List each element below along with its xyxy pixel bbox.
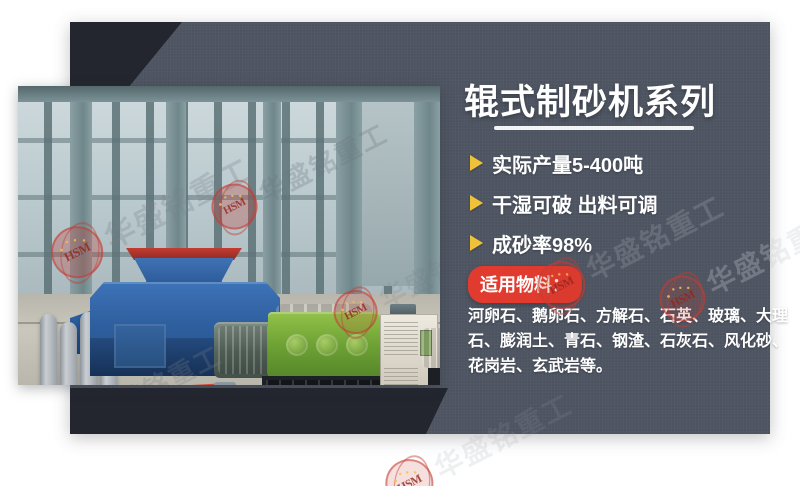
- page-title: 辊式制砂机系列: [464, 74, 764, 125]
- photo-gas-cylinder: [60, 322, 77, 385]
- photo-ceiling-beam: [18, 86, 440, 102]
- feature-item-1: 实际产量5-400吨: [470, 150, 770, 176]
- photo-gas-cylinder: [40, 314, 57, 385]
- materials-line: 石、膨润土、青石、钢渣、石灰石、风化砂、: [468, 329, 764, 354]
- photo-cabinet-vent: [384, 322, 418, 358]
- logo-stars-icon: [388, 462, 421, 486]
- feature-item-2: 干湿可破 出料可调: [470, 190, 770, 216]
- photo-column: [263, 86, 281, 301]
- photo-machine-hopper: [134, 258, 234, 284]
- navy-accent-strip: [70, 388, 448, 434]
- title-divider: [494, 126, 694, 130]
- photo-shaft-coupling: [214, 382, 236, 385]
- materials-badge: 适用物料：: [468, 266, 582, 303]
- triangle-right-icon: [470, 155, 483, 171]
- materials-list: 河卵石、鹅卵石、方解石、石英、玻璃、大理 石、膨润土、青石、钢渣、石灰石、风化砂…: [468, 304, 764, 379]
- triangle-right-icon: [470, 235, 483, 251]
- photo-motor-stand: [428, 368, 440, 385]
- photo-gearbox-flange: [286, 334, 308, 356]
- feature-label: 干湿可破 出料可调: [492, 189, 658, 218]
- banner-content: 辊式制砂机系列 实际产量5-400吨 干湿可破 出料可调 成砂率98% 适用物料…: [464, 0, 770, 412]
- materials-line: 河卵石、鹅卵石、方解石、石英、玻璃、大理: [468, 304, 764, 329]
- photo-crusher-side-plate: [114, 324, 166, 368]
- photo-gearbox-flange: [346, 334, 368, 356]
- hsm-logo-icon: HSM: [377, 451, 442, 486]
- photo-column: [414, 86, 440, 301]
- photo-base-ribs: [266, 380, 384, 385]
- materials-line: 花岗岩、玄武岩等。: [468, 354, 764, 379]
- feature-label: 实际产量5-400吨: [492, 149, 643, 178]
- triangle-right-icon: [470, 195, 483, 211]
- photo-gearbox-flange: [316, 334, 338, 356]
- product-photo: HSM 华盛铭重工 HSM 华盛铭重工 HSM 华盛铭重工 HS: [18, 86, 440, 385]
- logo-orbit-ring-icon: [390, 453, 433, 486]
- feature-item-3: 成砂率98%: [470, 230, 770, 256]
- photo-column: [336, 86, 362, 301]
- photo-column: [70, 86, 92, 301]
- banner-canvas: HSM 华盛铭重工 HSM 华盛铭重工 HSM 华盛铭重工 HS: [0, 0, 800, 486]
- photo-secondary-motor: [422, 328, 440, 368]
- feature-label: 成砂率98%: [492, 229, 592, 258]
- hsm-logo-text: HSM: [395, 472, 423, 486]
- photo-cabinet-vent: [384, 368, 418, 385]
